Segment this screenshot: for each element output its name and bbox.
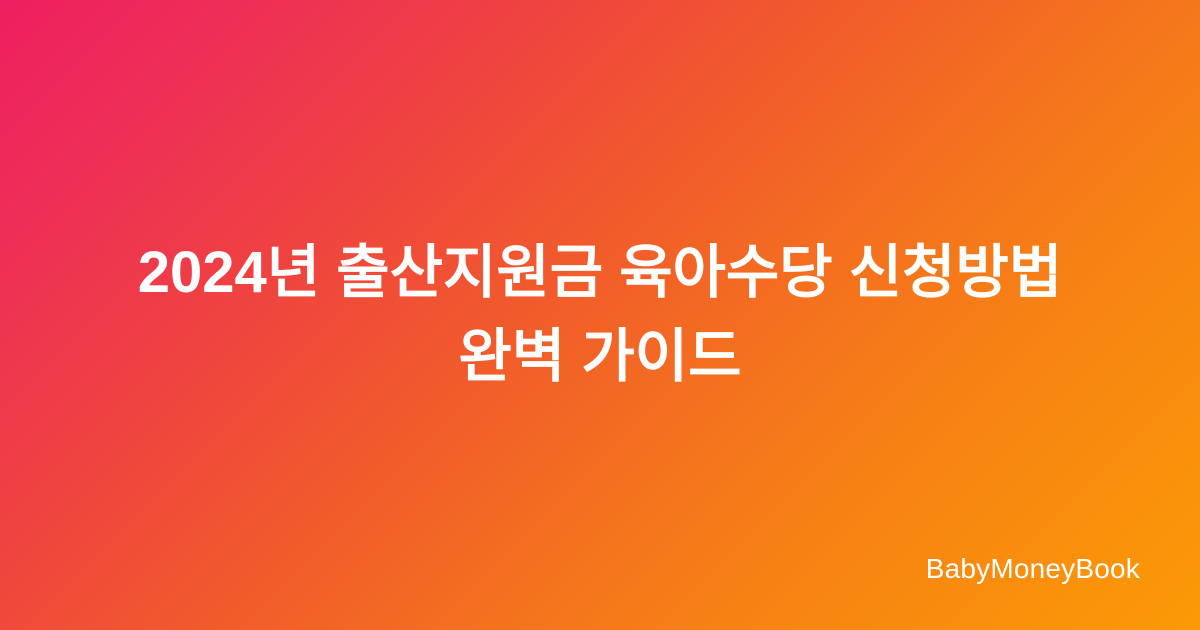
brand-watermark: BabyMoneyBook (926, 552, 1140, 586)
title-block: 2024년 출산지원금 육아수당 신청방법 완벽 가이드 (85, 231, 1115, 399)
og-share-card: 2024년 출산지원금 육아수당 신청방법 완벽 가이드 BabyMoneyBo… (0, 0, 1200, 630)
page-title: 2024년 출산지원금 육아수당 신청방법 완벽 가이드 (85, 231, 1115, 399)
